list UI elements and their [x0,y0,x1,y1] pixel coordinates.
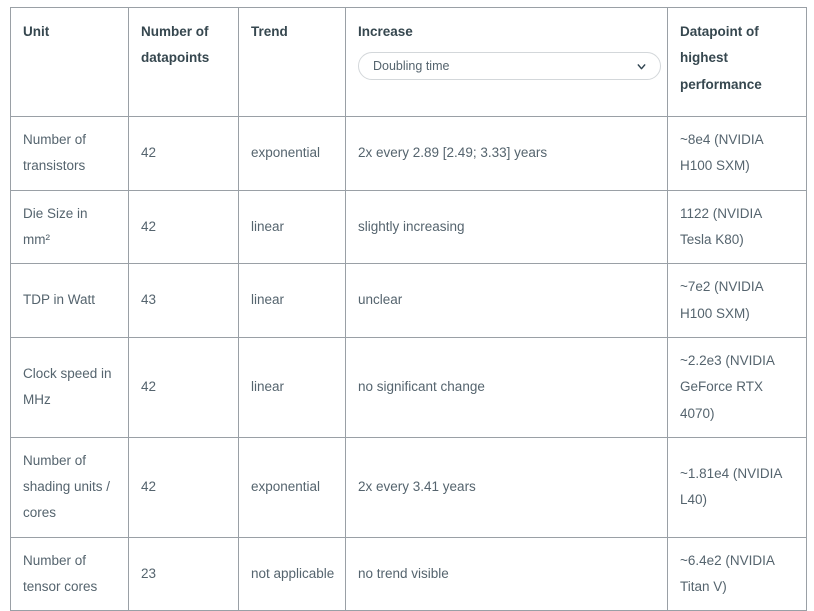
cell-trend-text: exponential [251,140,335,166]
cell-increase-text: unclear [358,287,657,313]
cell-increase-text: no significant change [358,374,657,400]
column-header-unit-label: Unit [23,19,118,45]
column-header-increase: Increase Doubling time [346,8,668,117]
cell-trend: exponential [239,437,346,537]
table-header-row: Unit Number of datapoints Trend Increase… [11,8,807,117]
cell-highest-text: 1122 (NVIDIA Tesla K80) [680,201,796,254]
cell-trend-text: not applicable [251,561,335,587]
cell-increase: slightly increasing [346,190,668,264]
cell-trend: exponential [239,117,346,191]
comparison-table-container: Unit Number of datapoints Trend Increase… [10,7,806,611]
cell-datapoints-text: 42 [141,474,228,500]
chevron-down-icon [635,60,648,73]
cell-datapoints: 42 [129,437,239,537]
cell-trend-text: linear [251,287,335,313]
column-header-trend-label: Trend [251,19,335,45]
table-row: Clock speed in MHz 42 linear no signific… [11,337,807,437]
cell-trend: not applicable [239,537,346,611]
column-header-trend: Trend [239,8,346,117]
column-header-highest-datapoint: Datapoint of highest performance [668,8,807,117]
increase-metric-select[interactable]: Doubling time [358,52,661,80]
cell-unit: Number of shading units / cores [11,437,129,537]
cell-trend-text: exponential [251,474,335,500]
cell-datapoints-text: 43 [141,287,228,313]
column-header-datapoints: Number of datapoints [129,8,239,117]
cell-increase-text: slightly increasing [358,214,657,240]
cell-trend-text: linear [251,374,335,400]
cell-datapoints: 43 [129,264,239,338]
cell-increase: 2x every 3.41 years [346,437,668,537]
cell-highest-text: ~6.4e2 (NVIDIA Titan V) [680,548,796,601]
cell-highest: ~8e4 (NVIDIA H100 SXM) [668,117,807,191]
cell-unit: Number of transistors [11,117,129,191]
cell-unit: TDP in Watt [11,264,129,338]
cell-datapoints: 42 [129,117,239,191]
cell-unit-text: TDP in Watt [23,287,118,313]
column-header-increase-label: Increase [358,19,657,45]
cell-increase-text: 2x every 2.89 [2.49; 3.33] years [358,140,657,166]
table-row: Number of shading units / cores 42 expon… [11,437,807,537]
cell-trend-text: linear [251,214,335,240]
cell-datapoints-text: 42 [141,214,228,240]
cell-highest-text: ~8e4 (NVIDIA H100 SXM) [680,127,796,180]
table-row: Die Size in mm² 42 linear slightly incre… [11,190,807,264]
table-body: Number of transistors 42 exponential 2x … [11,117,807,611]
cell-increase: unclear [346,264,668,338]
cell-unit-text: Clock speed in MHz [23,361,118,414]
column-header-datapoints-label: Number of datapoints [141,19,228,72]
cell-increase: 2x every 2.89 [2.49; 3.33] years [346,117,668,191]
cell-highest: 1122 (NVIDIA Tesla K80) [668,190,807,264]
cell-increase: no trend visible [346,537,668,611]
increase-metric-select-value: Doubling time [373,60,449,73]
cell-unit-text: Number of tensor cores [23,548,118,601]
cell-datapoints-text: 42 [141,140,228,166]
cell-highest-text: ~7e2 (NVIDIA H100 SXM) [680,274,796,327]
cell-trend: linear [239,264,346,338]
cell-trend: linear [239,337,346,437]
cell-highest: ~7e2 (NVIDIA H100 SXM) [668,264,807,338]
cell-datapoints-text: 42 [141,374,228,400]
cell-unit-text: Die Size in mm² [23,201,118,254]
table-header: Unit Number of datapoints Trend Increase… [11,8,807,117]
table-row: Number of transistors 42 exponential 2x … [11,117,807,191]
cell-highest: ~6.4e2 (NVIDIA Titan V) [668,537,807,611]
cell-highest-text: ~2.2e3 (NVIDIA GeForce RTX 4070) [680,348,796,427]
cell-datapoints: 42 [129,190,239,264]
table-row: Number of tensor cores 23 not applicable… [11,537,807,611]
gpu-trends-table: Unit Number of datapoints Trend Increase… [10,7,807,611]
cell-increase-text: 2x every 3.41 years [358,474,657,500]
cell-unit: Die Size in mm² [11,190,129,264]
cell-increase: no significant change [346,337,668,437]
cell-unit-text: Number of shading units / cores [23,448,118,527]
cell-datapoints-text: 23 [141,561,228,587]
cell-unit: Clock speed in MHz [11,337,129,437]
cell-highest: ~2.2e3 (NVIDIA GeForce RTX 4070) [668,337,807,437]
column-header-unit: Unit [11,8,129,117]
cell-highest-text: ~1.81e4 (NVIDIA L40) [680,461,796,514]
table-row: TDP in Watt 43 linear unclear ~7e2 (NVID… [11,264,807,338]
cell-increase-text: no trend visible [358,561,657,587]
cell-datapoints: 42 [129,337,239,437]
cell-datapoints: 23 [129,537,239,611]
cell-unit: Number of tensor cores [11,537,129,611]
page-root: Unit Number of datapoints Trend Increase… [0,0,814,514]
column-header-highest-datapoint-label: Datapoint of highest performance [680,19,796,98]
cell-highest: ~1.81e4 (NVIDIA L40) [668,437,807,537]
cell-trend: linear [239,190,346,264]
cell-unit-text: Number of transistors [23,127,118,180]
